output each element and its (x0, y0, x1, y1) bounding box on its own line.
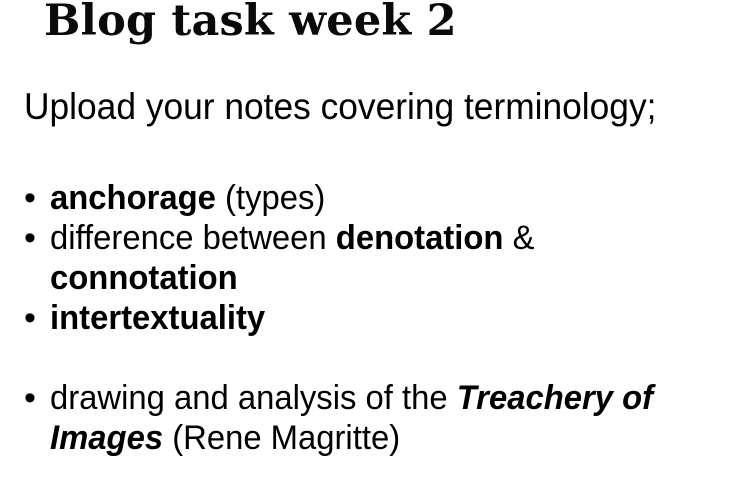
bullet-text-run: & (503, 219, 534, 257)
bullet-text-run: (Rene Magritte) (163, 419, 400, 457)
bullet-item-denotation-connotation: •difference between denotation & connota… (22, 218, 737, 298)
bullet-item-intertextuality: •intertextuality (22, 298, 737, 338)
bullet-item-treachery-of-images: •drawing and analysis of the Treachery o… (22, 378, 737, 458)
bullet-text-run: intertextuality (50, 299, 265, 337)
bullet-item-anchorage: •anchorage (types) (22, 178, 737, 218)
bullet-marker-icon: • (24, 298, 52, 338)
slide-intro-text: Upload your notes covering terminology; (24, 85, 656, 129)
bullet-text-run: anchorage (50, 179, 216, 217)
bullet-text-denotation-connotation: difference between denotation & connotat… (50, 218, 713, 298)
bullet-marker-icon: • (24, 178, 52, 218)
bullet-list: •anchorage (types)•difference between de… (22, 178, 737, 458)
bullet-text-treachery-of-images: drawing and analysis of the Treachery of… (50, 378, 713, 458)
slide-title: Blog task week 2 (44, 0, 457, 45)
bullet-marker-icon: • (24, 378, 52, 418)
bullet-text-anchorage: anchorage (types) (50, 178, 713, 218)
bullet-text-run: connotation (50, 259, 238, 297)
bullet-marker-icon: • (24, 218, 52, 258)
bullet-text-run: drawing and analysis of the (50, 379, 457, 417)
bullet-text-run: difference between (50, 219, 336, 257)
bullet-text-run: (types) (216, 179, 325, 217)
bullet-text-run: denotation (336, 219, 504, 257)
slide-canvas: Blog task week 2 Upload your notes cover… (0, 0, 741, 485)
bullet-text-intertextuality: intertextuality (50, 298, 713, 338)
